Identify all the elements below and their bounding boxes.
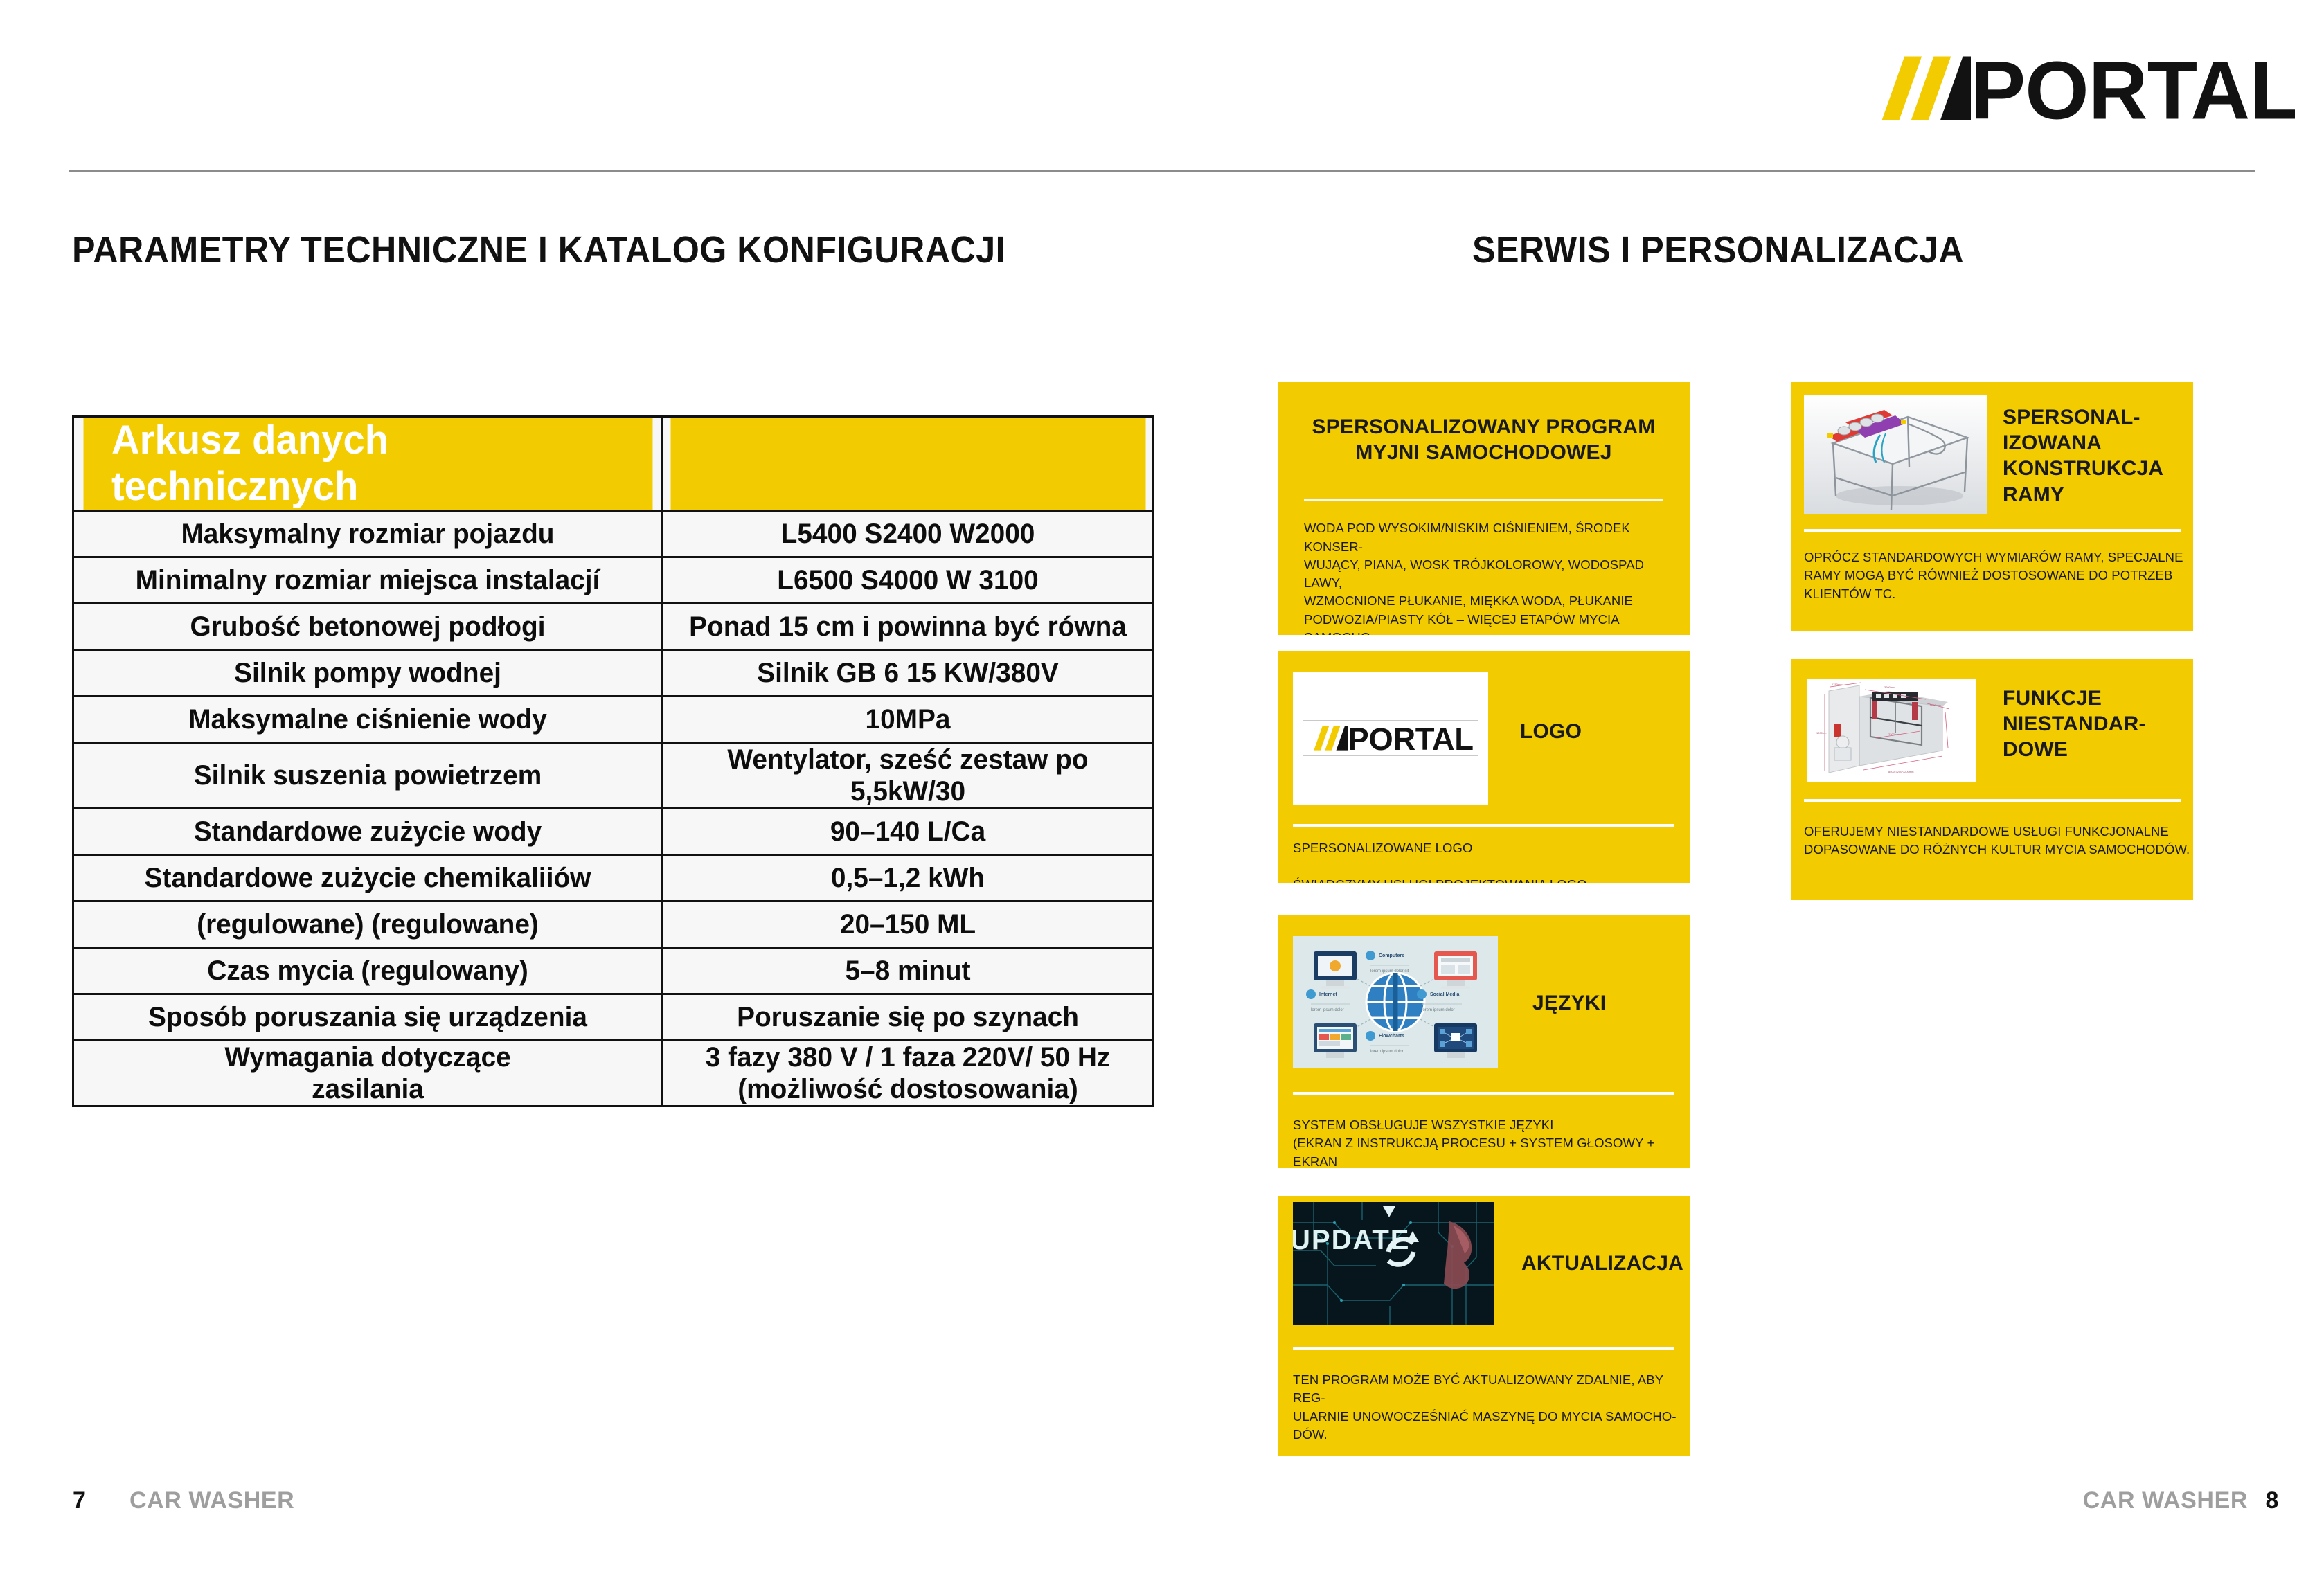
table-row: Silnik pompy wodnej Silnik GB 6 15 KW/38…	[73, 650, 1154, 697]
frame-cad-render	[1804, 395, 1987, 514]
svg-text:lorem ipsum dolor: lorem ipsum dolor	[1370, 1050, 1404, 1054]
svg-text:Computers: Computers	[1379, 953, 1404, 958]
table-header-row: Arkusz danych technicznych	[73, 417, 1154, 511]
svg-text:Social Media: Social Media	[1430, 992, 1460, 997]
svg-text:1200mm: 1200mm	[1816, 731, 1827, 735]
table-row: (regulowane) (regulowane) 20–150 ML	[73, 902, 1154, 948]
row-label: Standardowe zużycie wody	[82, 809, 653, 855]
card-divider	[1293, 1092, 1674, 1095]
card-body: OFERUJEMY NIESTANDARDOWE USŁUGI FUNKCJON…	[1804, 823, 2190, 859]
row-label: Sposób poruszania się urządzenia	[82, 994, 653, 1041]
technical-data-table: Arkusz danych technicznych Maksymalny ro…	[72, 415, 1154, 1107]
page-title-left: PARAMETRY TECHNICZNE I KATALOG KONFIGURA…	[72, 228, 1005, 271]
footer-page-number-right: 8	[2265, 1487, 2279, 1514]
row-label: Minimalny rozmiar miejsca instalacjí	[82, 557, 653, 604]
table-row: Standardowe zużycie chemikaliiów 0,5–1,2…	[73, 855, 1154, 902]
row-value: Wentylator, sześć zestaw po 5,5kW/30	[669, 743, 1146, 809]
svg-text:8500*3250*3200mm: 8500*3250*3200mm	[1888, 770, 1914, 773]
card-languages[interactable]: Computers lorem ipsum dolor sit Internet…	[1278, 915, 1690, 1168]
svg-text:lorem ipsum dolor sit: lorem ipsum dolor sit	[1370, 969, 1409, 974]
svg-text:5600mm: 5600mm	[1930, 703, 1941, 707]
table-row: Maksymalny rozmiar pojazdu L5400 S2400 W…	[73, 511, 1154, 557]
row-label: (regulowane) (regulowane)	[82, 902, 653, 948]
card-body: SPERSONALIZOWANE LOGO ŚWIADCZYMY USŁUGI …	[1293, 839, 1587, 883]
table-row: Standardowe zużycie wody 90–140 L/Ca	[73, 809, 1154, 855]
card-title: JĘZYKI	[1532, 990, 1606, 1016]
card-body: SYSTEM OBSŁUGUJE WSZYSTKIE JĘZYKI (EKRAN…	[1293, 1116, 1690, 1168]
table-header-blank	[669, 417, 1146, 511]
card-title: LOGO	[1520, 719, 1582, 744]
card-title: SPERSONAL- IZOWANA KONSTRUKCJA RAMY	[2003, 404, 2176, 508]
svg-text:PORTAL: PORTAL	[1348, 723, 1473, 753]
card-divider	[1293, 824, 1674, 827]
card-divider	[1804, 799, 2181, 802]
row-value: 0,5–1,2 kWh	[669, 855, 1146, 902]
table-row: Sposób poruszania się urządzenia Porusza…	[73, 994, 1154, 1041]
carwash-bay-cad-render: 1780mm1200mm 3200mm5600mm 2200mm8500*325…	[1807, 679, 1976, 782]
row-label: Maksymalne ciśnienie wody	[82, 697, 653, 743]
row-label: Wymagania dotyczące zasilania	[82, 1041, 653, 1106]
svg-text:Flowcharts: Flowcharts	[1379, 1034, 1404, 1039]
card-custom-program[interactable]: SPERSONALIZOWANY PROGRAM MYJNI SAMOCHODO…	[1278, 382, 1690, 635]
card-update[interactable]: UPDATE AKTUALIZACJA TEN PROGRAM MOŻE BYĆ…	[1278, 1196, 1690, 1456]
card-body: WODA POD WYSOKIM/NISKIM CIŚNIENIEM, ŚROD…	[1278, 501, 1690, 635]
svg-text:2200mm: 2200mm	[1888, 733, 1900, 736]
page-title-right: SERWIS I PERSONALIZACJA	[1472, 228, 1964, 271]
table-row: Czas mycia (regulowany) 5–8 minut	[73, 948, 1154, 994]
brand-logo: PORTAL	[1870, 48, 2295, 128]
svg-text:3200mm: 3200mm	[1884, 685, 1895, 689]
row-value: 3 fazy 380 V / 1 faza 220V/ 50 Hz (możli…	[669, 1041, 1146, 1106]
portal-logo-icon: PORTAL	[1303, 720, 1478, 756]
row-value: 5–8 minut	[669, 948, 1146, 994]
row-value: 90–140 L/Ca	[669, 809, 1146, 855]
row-label: Czas mycia (regulowany)	[82, 948, 653, 994]
card-divider	[1804, 529, 2181, 532]
logo-thumbnail: PORTAL	[1293, 672, 1488, 805]
row-value: L5400 S2400 W2000	[669, 511, 1146, 557]
svg-text:UPDATE: UPDATE	[1293, 1225, 1410, 1255]
footer-label-left: CAR WASHER	[129, 1487, 294, 1514]
table-row: Grubość betonowej podłogi Ponad 15 cm i …	[73, 604, 1154, 650]
footer-label-right: CAR WASHER	[2083, 1487, 2248, 1514]
row-label: Silnik pompy wodnej	[82, 650, 653, 697]
card-logo[interactable]: PORTAL LOGO SPERSONALIZOWANE LOGO ŚWIADC…	[1278, 651, 1690, 883]
card-title: AKTUALIZACJA	[1521, 1250, 1683, 1276]
row-value: 10MPa	[669, 697, 1146, 743]
row-label: Silnik suszenia powietrzem	[82, 743, 653, 809]
row-label: Standardowe zużycie chemikaliiów	[82, 855, 653, 902]
card-body: TEN PROGRAM MOŻE BYĆ AKTUALIZOWANY ZDALN…	[1293, 1371, 1690, 1444]
card-custom-frame[interactable]: SPERSONAL- IZOWANA KONSTRUKCJA RAMY OPRÓ…	[1791, 382, 2193, 631]
card-title: FUNKCJE NIESTANDAR- DOWE	[2003, 685, 2179, 763]
update-circuit-photo: UPDATE	[1293, 1202, 1494, 1325]
table-row: Wymagania dotyczące zasilania 3 fazy 380…	[73, 1041, 1154, 1106]
svg-text:lorem ipsum dolor: lorem ipsum dolor	[1422, 1008, 1455, 1012]
row-label: Maksymalny rozmiar pojazdu	[82, 511, 653, 557]
svg-text:Internet: Internet	[1319, 992, 1337, 997]
card-custom-features[interactable]: 1780mm1200mm 3200mm5600mm 2200mm8500*325…	[1791, 659, 2193, 900]
row-value: Silnik GB 6 15 KW/380V	[669, 650, 1146, 697]
row-value: Ponad 15 cm i powinna być równa	[669, 604, 1146, 650]
header-divider	[69, 170, 2255, 172]
svg-text:PORTAL: PORTAL	[1971, 48, 2295, 128]
row-label: Grubość betonowej podłogi	[82, 604, 653, 650]
row-value: L6500 S4000 W 3100	[669, 557, 1146, 604]
card-divider	[1293, 1347, 1674, 1350]
table-row: Minimalny rozmiar miejsca instalacjí L65…	[73, 557, 1154, 604]
card-body: OPRÓCZ STANDARDOWYCH WYMIARÓW RAMY, SPEC…	[1804, 548, 2183, 603]
svg-text:lorem ipsum dolor: lorem ipsum dolor	[1311, 1008, 1344, 1012]
table-row: Maksymalne ciśnienie wody 10MPa	[73, 697, 1154, 743]
card-title: SPERSONALIZOWANY PROGRAM MYJNI SAMOCHODO…	[1278, 382, 1690, 465]
svg-text:1780mm: 1780mm	[1832, 683, 1843, 686]
table-header-title: Arkusz danych technicznych	[82, 417, 653, 511]
footer-page-number-left: 7	[73, 1487, 87, 1514]
global-network-infographic: Computers lorem ipsum dolor sit Internet…	[1293, 936, 1498, 1068]
row-value: 20–150 ML	[669, 902, 1146, 948]
table-row: Silnik suszenia powietrzem Wentylator, s…	[73, 743, 1154, 809]
row-value: Poruszanie się po szynach	[669, 994, 1146, 1041]
